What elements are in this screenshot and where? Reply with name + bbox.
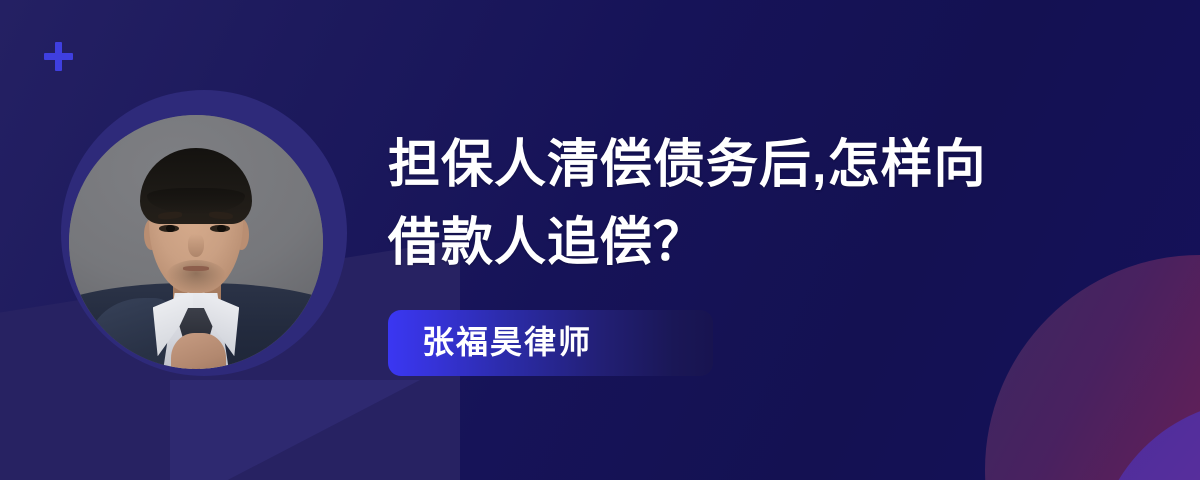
portrait-nose: [188, 234, 203, 257]
portrait-stubble: [166, 260, 227, 293]
avatar-photo: [69, 115, 323, 369]
plus-icon: [44, 42, 73, 71]
avatar: [61, 90, 347, 376]
lawyer-qa-banner: 担保人清偿债务后,怎样向 借款人追偿？ 张福昊律师: [0, 0, 1200, 480]
portrait-mouth: [183, 266, 208, 271]
portrait-hand: [171, 333, 227, 369]
page-title: 担保人清偿债务后,怎样向 借款人追偿？: [388, 126, 1128, 282]
portrait-hair: [140, 148, 252, 224]
portrait-image: [69, 115, 323, 369]
content-column: 担保人清偿债务后,怎样向 借款人追偿？ 张福昊律师: [388, 126, 1128, 376]
lawyer-name-badge[interactable]: 张福昊律师: [388, 310, 713, 376]
